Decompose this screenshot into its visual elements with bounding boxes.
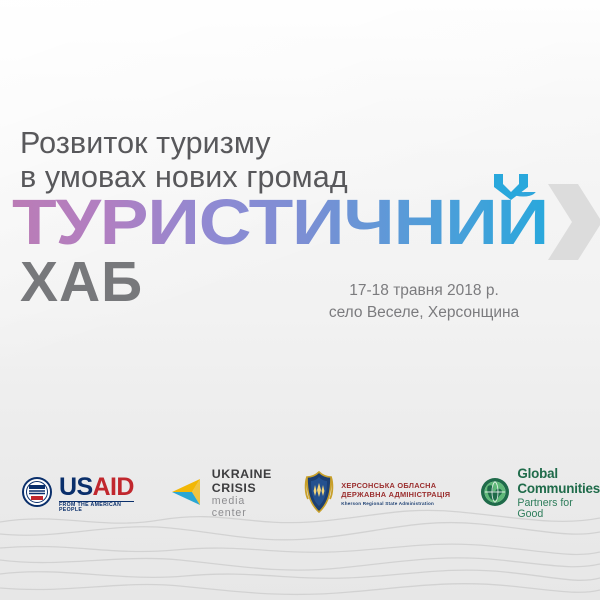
chevron-down-icon xyxy=(494,174,528,200)
headline-line-1: Розвиток туризму xyxy=(20,126,348,160)
event-date: 17-18 травня 2018 р. xyxy=(300,280,548,302)
wordmark-text: ТУРИСТИЧНИЙ xyxy=(12,192,548,252)
usaid-word-aid: AID xyxy=(93,473,134,501)
wave-decoration xyxy=(0,500,600,600)
ucmc-name: UKRAINE CRISIS xyxy=(212,468,272,496)
wordmark-svg: ТУРИСТИЧНИЙ xyxy=(12,192,548,252)
kherson-line-2: ДЕРЖАВНА АДМІНІСТРАЦІЯ xyxy=(341,491,450,500)
headline-line-2: в умовах нових громад xyxy=(20,160,348,194)
usaid-word-us: US xyxy=(59,473,93,501)
subword-hub: ХАБ xyxy=(20,254,143,311)
chevron-right-icon xyxy=(548,184,600,260)
gc-line-1: Global xyxy=(517,467,600,482)
poster-canvas: Розвиток туризму в умовах нових громад Т… xyxy=(0,0,600,600)
page-title: Розвиток туризму в умовах нових громад xyxy=(20,126,348,195)
gc-line-2: Communities xyxy=(517,482,600,497)
wordmark: ТУРИСТИЧНИЙ xyxy=(12,192,548,252)
event-details: 17-18 травня 2018 р. село Веселе, Херсон… xyxy=(300,280,548,325)
event-place: село Веселе, Херсонщина xyxy=(300,302,548,324)
